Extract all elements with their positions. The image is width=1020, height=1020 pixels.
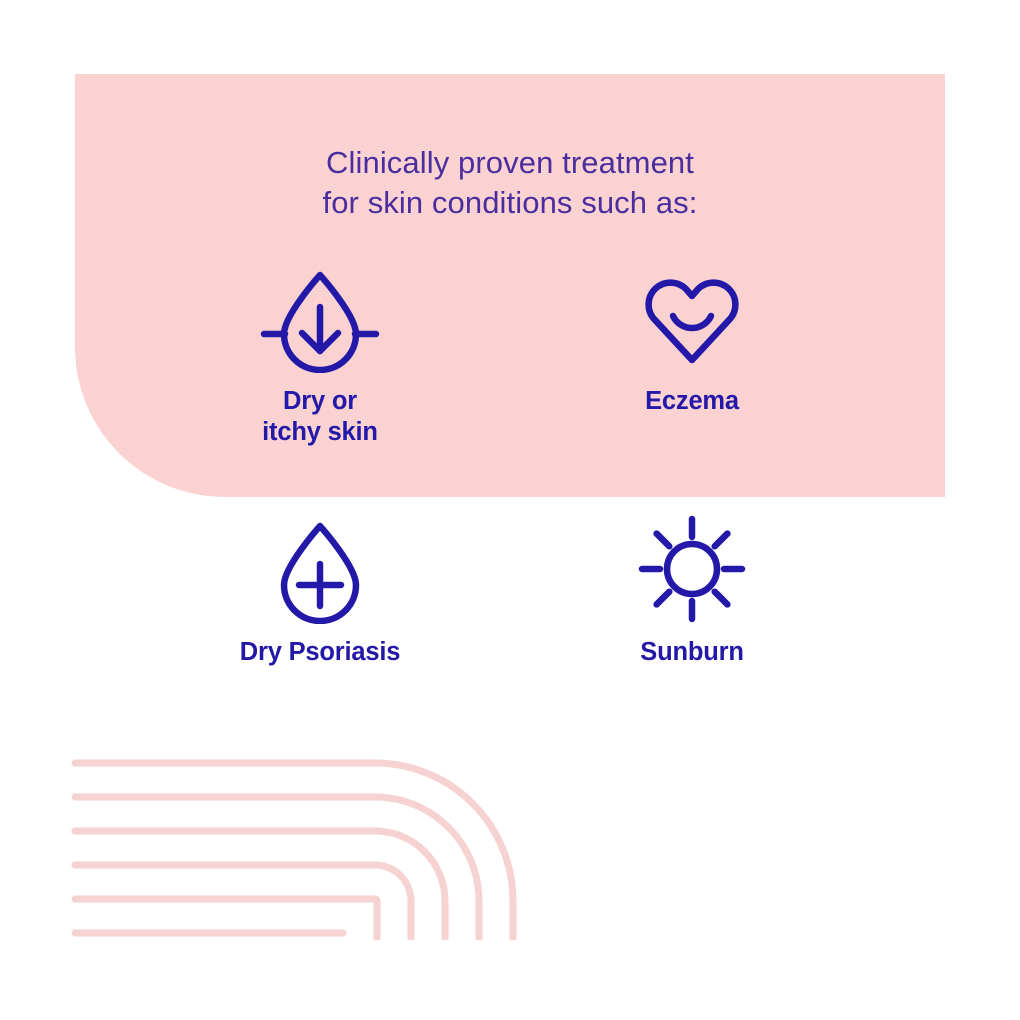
- condition-label: Eczema: [527, 386, 857, 417]
- condition-item-eczema: Eczema: [527, 262, 857, 417]
- condition-item-dry-psoriasis: Dry Psoriasis: [155, 513, 485, 668]
- page-title: Clinically proven treatment for skin con…: [75, 143, 945, 223]
- condition-label: Sunburn: [527, 637, 857, 668]
- droplet-down-arrow-icon: [155, 262, 485, 374]
- promo-graphic: Clinically proven treatment for skin con…: [0, 0, 1020, 1020]
- concentric-rounded-lines-decoration: [0, 735, 620, 940]
- heart-smile-icon: [527, 262, 857, 374]
- condition-label: Dry Psoriasis: [155, 637, 485, 668]
- sun-icon: [527, 513, 857, 625]
- droplet-plus-icon: [155, 513, 485, 625]
- condition-item-sunburn: Sunburn: [527, 513, 857, 668]
- condition-item-dry-itchy-skin: Dry or itchy skin: [155, 262, 485, 448]
- condition-label: Dry or itchy skin: [155, 386, 485, 448]
